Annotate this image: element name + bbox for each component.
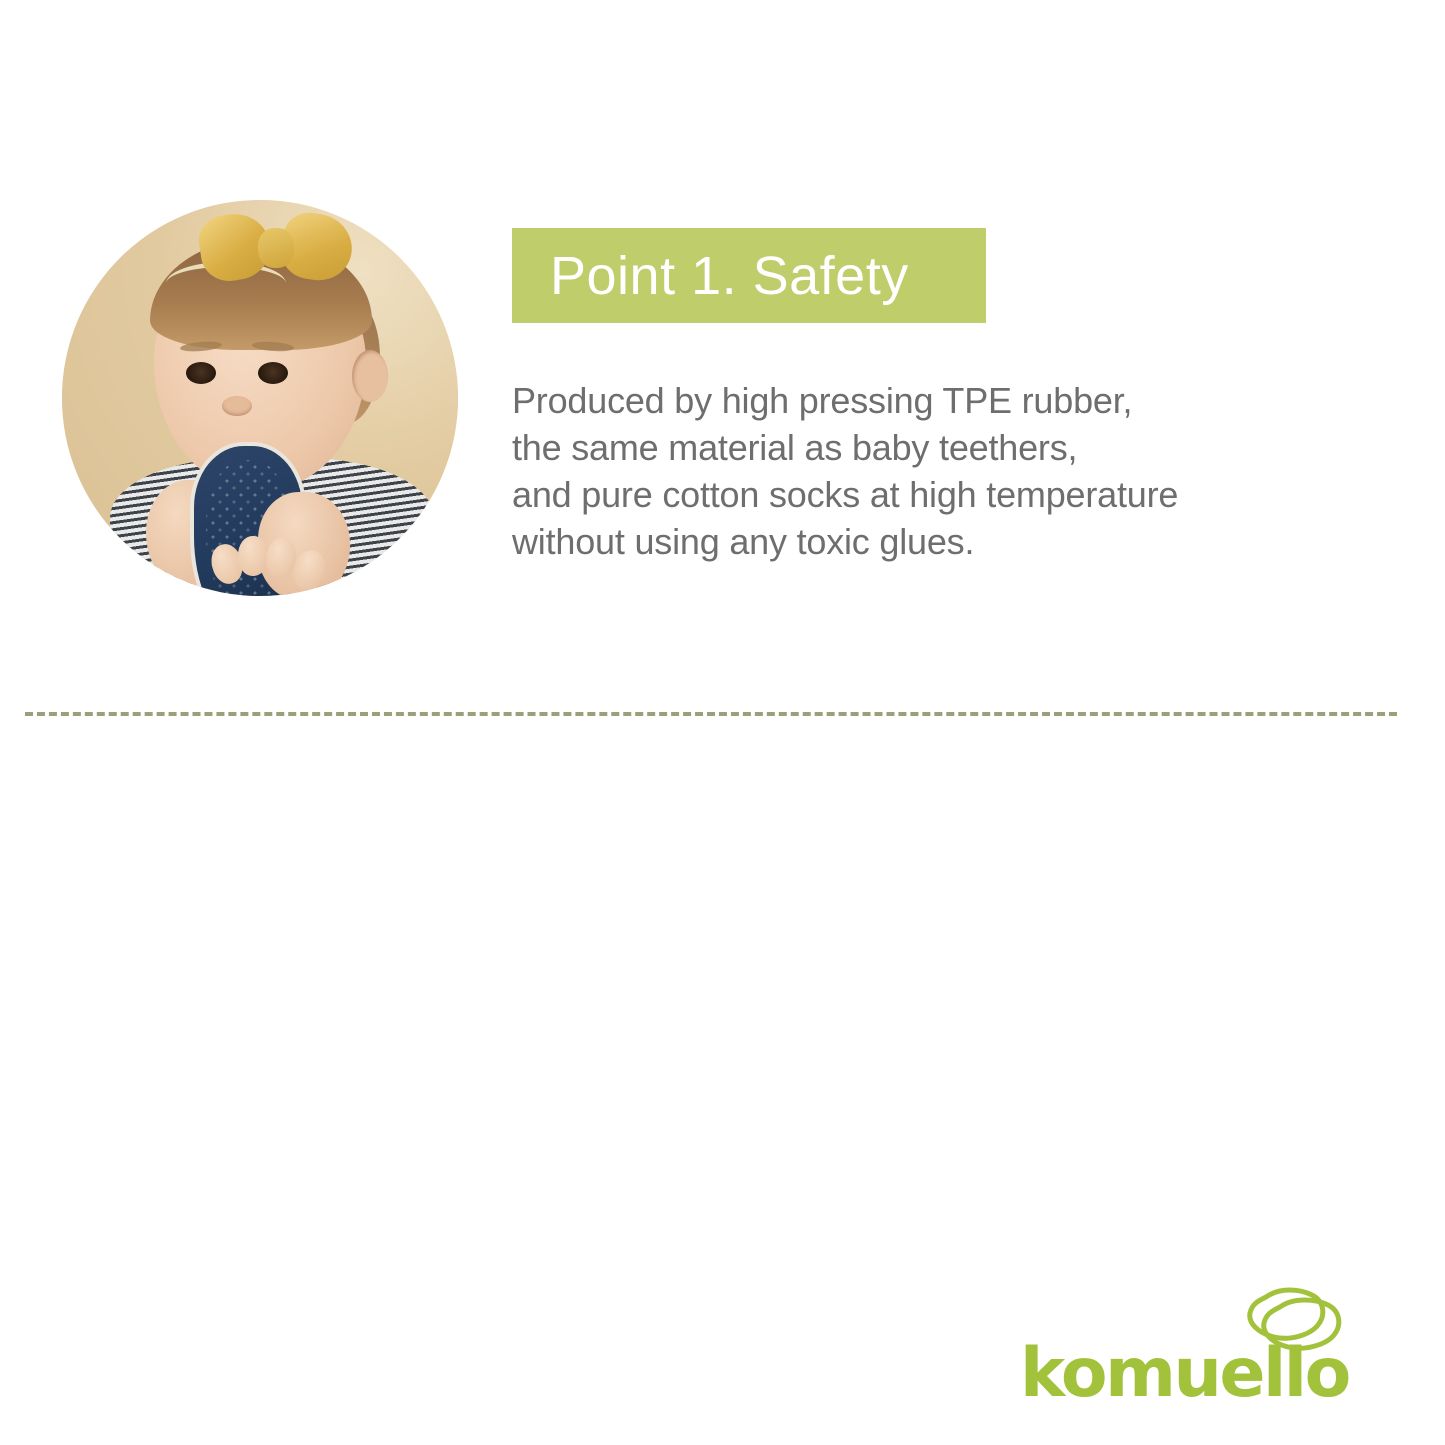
body-line: and pure cotton socks at high temperatur… [512,471,1372,518]
baby-eye-right [258,362,288,384]
section-safety: Point 1. Safety Produced by high pressin… [0,0,1445,700]
body-line: Produced by high pressing TPE rubber, [512,377,1372,424]
product-infographic-page: Point 1. Safety Produced by high pressin… [0,0,1445,1445]
brand-wordmark: komuello [1020,1340,1349,1408]
section-ergonomic-design: Point.2 Ergonomic design If the space in… [0,725,1445,1285]
section-divider [25,712,1397,716]
footer-brand-logo: komuello [1020,1285,1350,1410]
baby-ear [352,350,388,402]
baby-nose [222,396,252,416]
body-line: the same material as baby teethers, [512,424,1372,471]
body-text-safety: Produced by high pressing TPE rubber, th… [512,377,1372,565]
baby-eye-left [186,362,216,384]
baby-fingers [212,534,332,596]
yellow-bow-icon [200,212,352,284]
photo-baby-teething-on-shoe-sole [62,200,458,596]
banner-point-1-safety: Point 1. Safety [512,228,986,323]
body-line: without using any toxic glues. [512,518,1372,565]
